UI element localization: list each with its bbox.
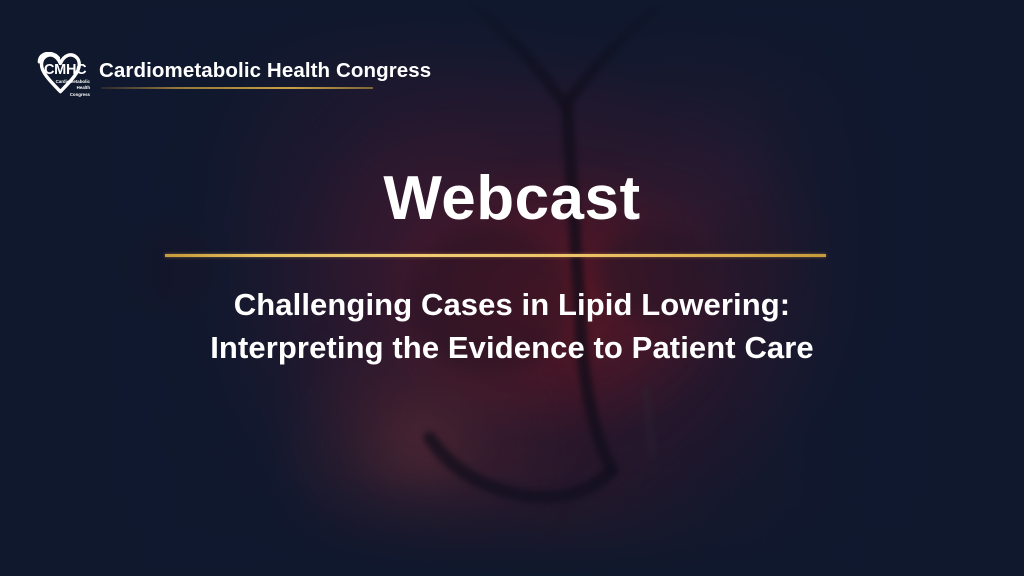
cmhc-logo-letters: CMHC	[44, 63, 86, 78]
page-subtitle-line-2: Interpreting the Evidence to Patient Car…	[0, 326, 1024, 369]
page-subtitle: Challenging Cases in Lipid Lowering: Int…	[0, 283, 1024, 370]
cmhc-heart-logo-icon: CMHC Cardiometabolic Health Congress	[33, 52, 89, 98]
cmhc-wordmark-underline	[101, 87, 373, 89]
cmhc-logo-subtext: Cardiometabolic Health Congress	[46, 79, 90, 98]
gold-divider	[165, 254, 826, 257]
cmhc-wordmark: Cardiometabolic Health Congress	[99, 61, 431, 82]
cmhc-logo-lockup[interactable]: CMHC Cardiometabolic Health Congress Car…	[33, 52, 431, 98]
cmhc-wordmark-wrap: Cardiometabolic Health Congress	[99, 61, 431, 89]
page-subtitle-line-1: Challenging Cases in Lipid Lowering:	[0, 283, 1024, 326]
page-title: Webcast	[0, 168, 1024, 230]
cmhc-logo-subtext-line: Congress	[46, 92, 90, 98]
webcast-title-slide: CMHC Cardiometabolic Health Congress Car…	[0, 0, 1024, 576]
